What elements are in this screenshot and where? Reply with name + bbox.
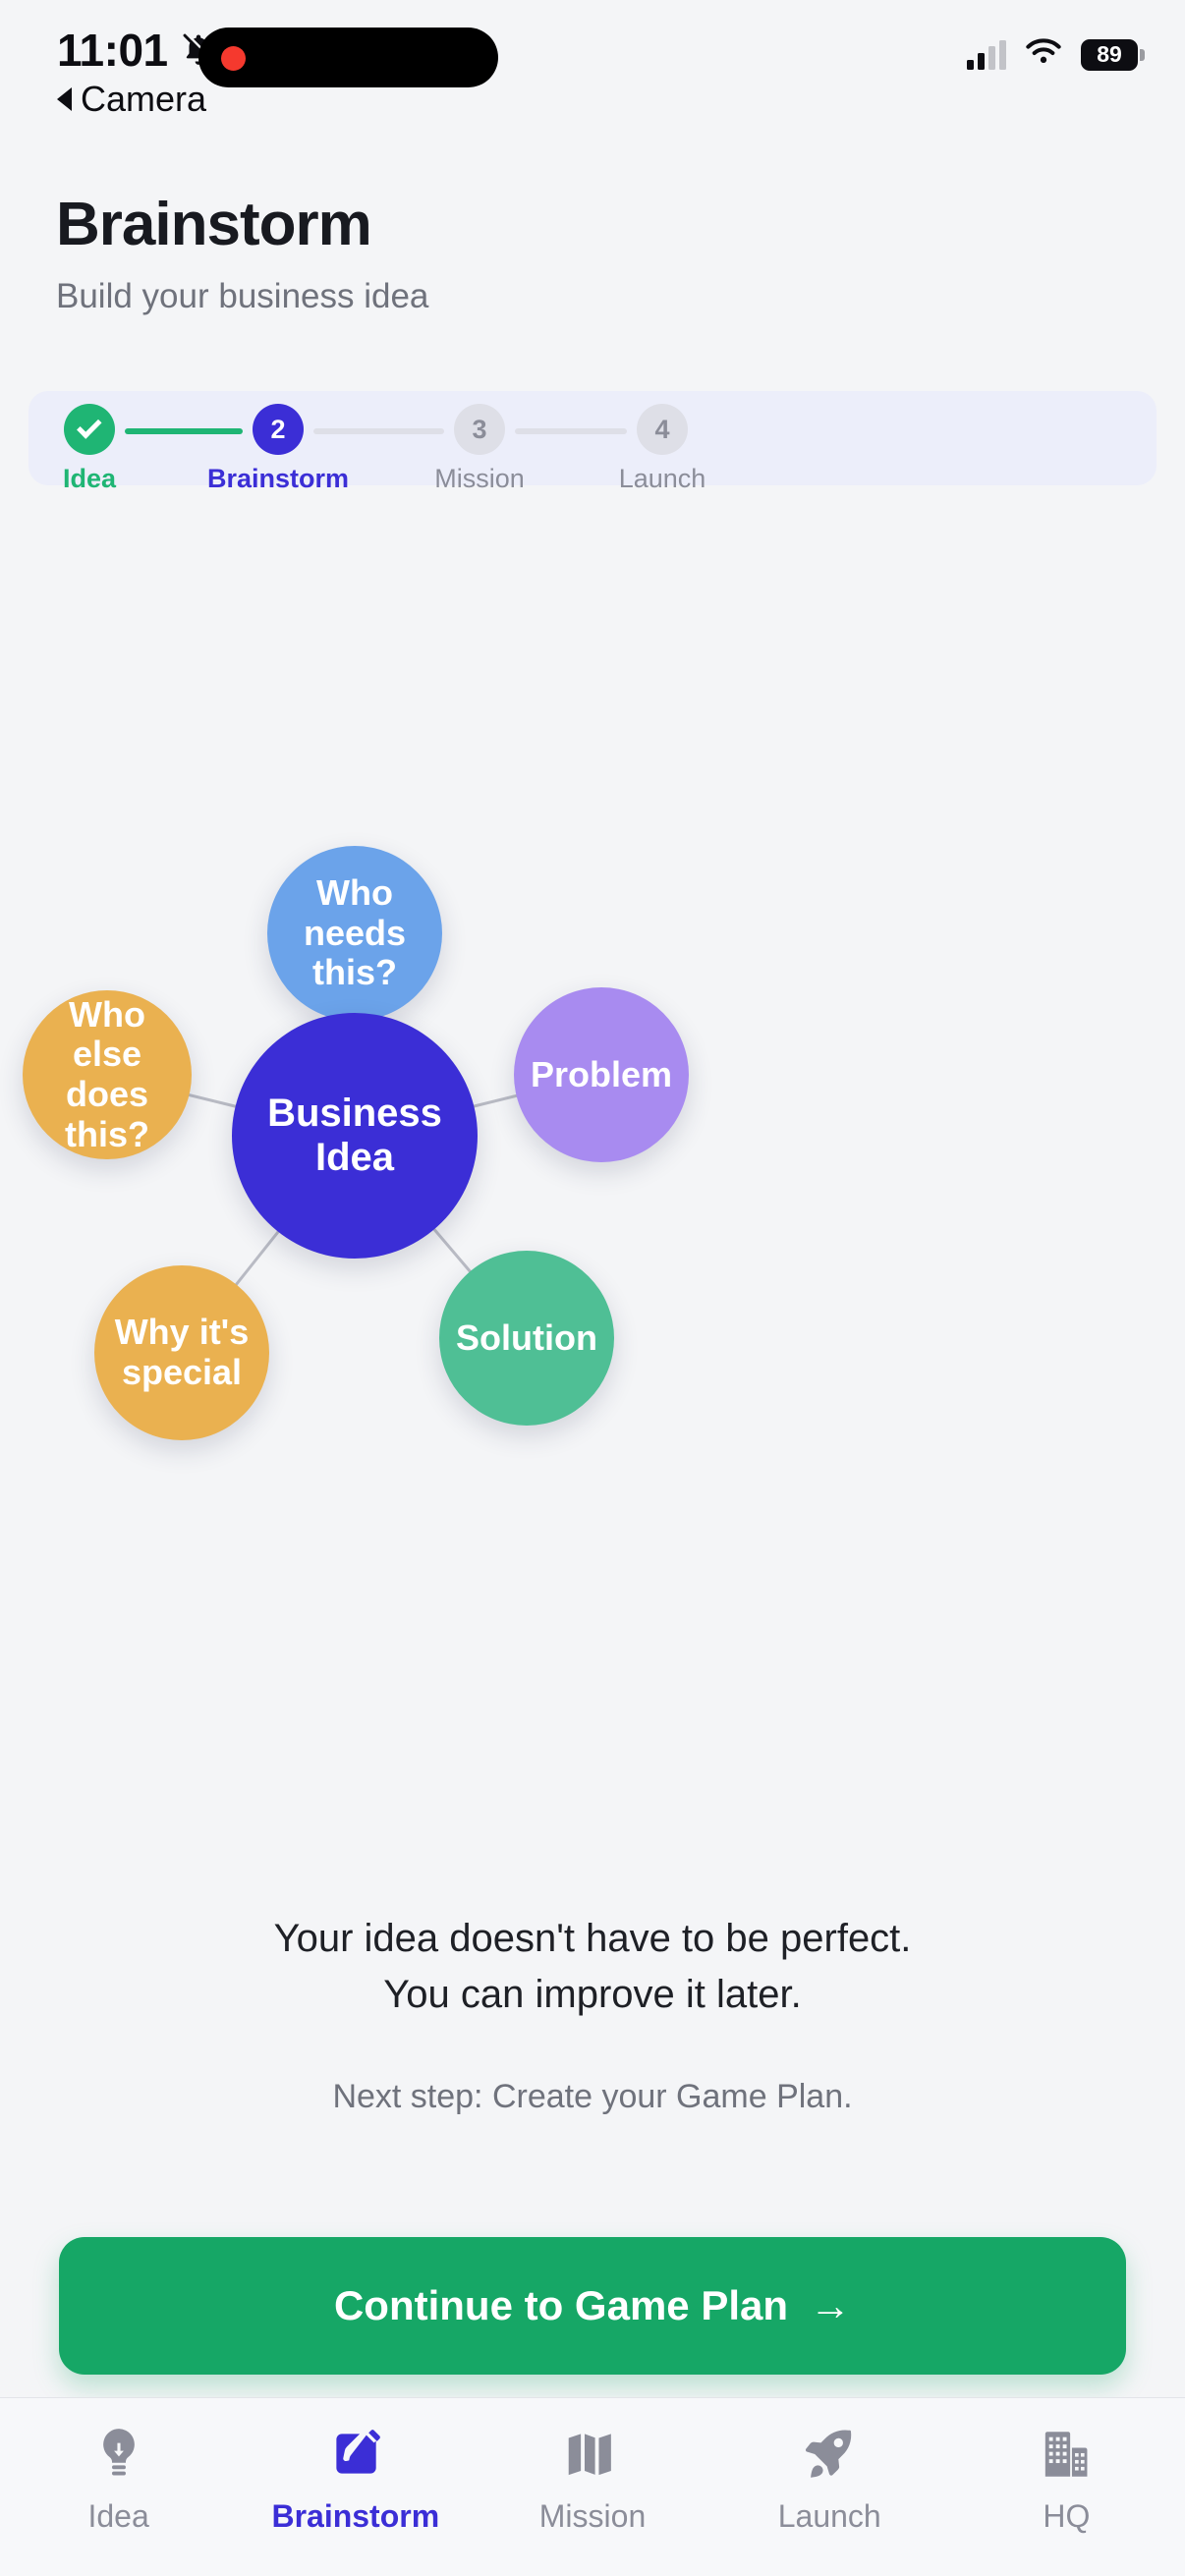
cta-label: Continue to Game Plan — [334, 2282, 788, 2329]
page-subtitle: Build your business idea — [56, 277, 428, 316]
tab-label-launch: Launch — [778, 2498, 881, 2535]
tab-label-mission: Mission — [539, 2498, 646, 2535]
stepper-step-brainstorm[interactable]: 2Brainstorm — [180, 404, 376, 494]
battery-level: 89 — [1097, 41, 1122, 68]
recording-dot-icon — [221, 46, 246, 71]
progress-stepper: Idea2Brainstorm3Mission4Launch — [28, 391, 1157, 485]
tab-label-hq: HQ — [1043, 2498, 1090, 2535]
page-header: Brainstorm Build your business idea — [56, 195, 428, 316]
continue-to-game-plan-button[interactable]: Continue to Game Plan → — [59, 2237, 1126, 2375]
status-bar-left: 11:01 Camera — [57, 24, 217, 120]
back-app-label: Camera — [81, 79, 206, 120]
encouragement-line-1: Your idea doesn't have to be perfect. — [0, 1911, 1185, 1967]
tab-label-brainstorm: Brainstorm — [271, 2498, 439, 2535]
status-bar-right: 89 — [967, 37, 1138, 72]
mindmap-node-problem[interactable]: Problem — [514, 987, 689, 1162]
next-step-text: Next step: Create your Game Plan. — [0, 2078, 1185, 2116]
check-icon — [77, 414, 101, 438]
arrow-right-icon: → — [810, 2285, 851, 2326]
page-title: Brainstorm — [56, 195, 428, 255]
stepper-dot-brainstorm: 2 — [253, 404, 304, 455]
stepper-dot-launch: 4 — [637, 404, 688, 455]
stepper-label-mission: Mission — [434, 464, 525, 494]
mindmap-node-solution[interactable]: Solution — [439, 1251, 614, 1426]
tab-hq[interactable]: HQ — [948, 2424, 1185, 2535]
status-bar: 11:01 Camera — [0, 0, 1185, 147]
lightbulb-icon — [88, 2424, 149, 2485]
encouragement-line-2: You can improve it later. — [0, 1967, 1185, 2023]
tab-idea[interactable]: Idea — [0, 2424, 237, 2535]
battery-indicator: 89 — [1081, 39, 1138, 71]
tab-mission[interactable]: Mission — [474, 2424, 710, 2535]
mindmap-node-who-needs-this[interactable]: Who needs this? — [267, 846, 442, 1021]
mindmap-node-why-it-s-special[interactable]: Why it's special — [94, 1265, 269, 1440]
stepper-step-idea[interactable]: Idea — [0, 404, 188, 494]
tab-launch[interactable]: Launch — [711, 2424, 948, 2535]
pencil-square-icon — [325, 2424, 386, 2485]
mindmap-node-who-else-does-this[interactable]: Who else does this? — [23, 990, 192, 1159]
stepper-dot-idea — [64, 404, 115, 455]
bottom-tab-bar: IdeaBrainstormMissionLaunchHQ — [0, 2397, 1185, 2576]
stepper-dot-mission: 3 — [454, 404, 505, 455]
mindmap-diagram: Who needs this?ProblemSolutionWhy it's s… — [0, 550, 1185, 1768]
dynamic-island[interactable] — [198, 28, 498, 87]
cellular-signal-icon — [967, 40, 1006, 70]
stepper-label-launch: Launch — [619, 464, 706, 494]
mindmap-node-business-idea[interactable]: Business Idea — [232, 1013, 478, 1259]
stepper-step-launch[interactable]: 4Launch — [564, 404, 761, 494]
app-screen: 11:01 Camera — [0, 0, 1185, 2576]
stepper-step-mission[interactable]: 3Mission — [381, 404, 578, 494]
back-to-app-indicator[interactable]: Camera — [57, 79, 217, 120]
wifi-icon — [1024, 37, 1063, 72]
stepper-label-idea: Idea — [63, 464, 116, 494]
rocket-icon — [799, 2424, 860, 2485]
status-time: 11:01 — [57, 24, 168, 77]
encouragement-text: Your idea doesn't have to be perfect. Yo… — [0, 1911, 1185, 2023]
back-triangle-icon — [57, 87, 72, 111]
map-icon — [562, 2424, 623, 2485]
tab-brainstorm[interactable]: Brainstorm — [237, 2424, 474, 2535]
stepper-label-brainstorm: Brainstorm — [207, 464, 349, 494]
building-icon — [1036, 2424, 1097, 2485]
tab-label-idea: Idea — [87, 2498, 148, 2535]
